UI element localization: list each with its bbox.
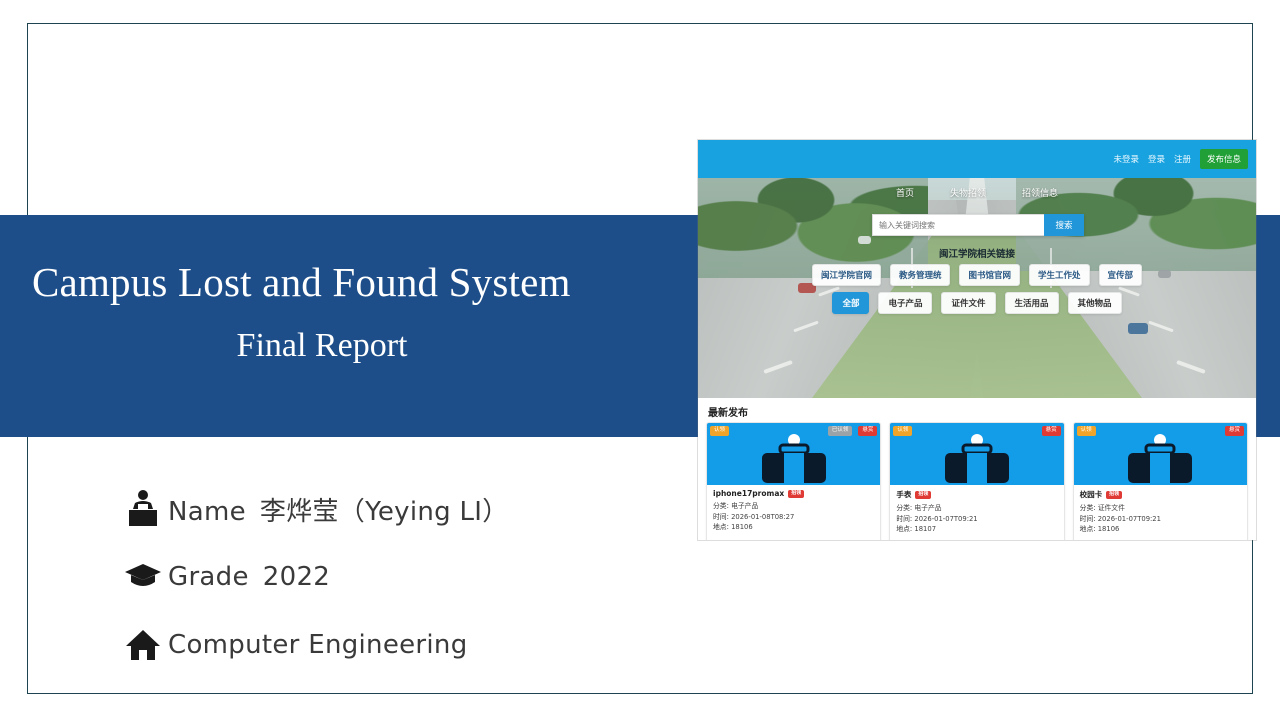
label-category: 分类:	[713, 502, 729, 510]
item-place: 18106	[731, 523, 753, 531]
item-thumbnail: 认领 悬赏	[1074, 423, 1247, 485]
item-time: 2026-01-07T09:21	[914, 515, 977, 523]
list-item[interactable]: 认领 悬赏	[1073, 422, 1248, 540]
label-place: 地点:	[1080, 525, 1096, 533]
item-place-line: 地点: 18106	[713, 522, 874, 533]
item-place: 18106	[1098, 525, 1120, 533]
badge-reward: 悬赏	[1042, 426, 1061, 436]
item-name: 校园卡	[1080, 489, 1103, 500]
nav-tab-found-info[interactable]: 招领信息	[1022, 186, 1058, 199]
page-subtitle: Final Report	[32, 327, 612, 365]
link-chip-academic-affairs[interactable]: 教务管理统	[890, 264, 951, 286]
label-place: 地点:	[896, 525, 912, 533]
list-item[interactable]: 认领 已认领 悬赏	[706, 422, 881, 540]
presenter-icon	[118, 487, 168, 531]
label-time: 时间:	[896, 515, 912, 523]
item-time-line: 时间: 2026-01-08T08:27	[713, 512, 874, 523]
presentation-slide: Campus Lost and Found System Final Repor…	[0, 0, 1280, 720]
item-name: iphone17promax	[713, 489, 784, 498]
item-category-line: 分类: 电子产品	[713, 501, 874, 512]
item-time: 2026-01-08T08:27	[731, 513, 794, 521]
label-category: 分类:	[1080, 504, 1096, 512]
item-category: 电子产品	[914, 504, 941, 512]
item-details: iphone17promax 招领 分类: 电子产品 时间: 2026-01-0…	[707, 485, 880, 539]
item-category: 证件文件	[1098, 504, 1125, 512]
nav-tab-home[interactable]: 首页	[896, 186, 914, 199]
item-thumbnail: 认领 已认领 悬赏	[707, 423, 880, 485]
suitcase-icon	[937, 431, 1017, 485]
item-place: 18107	[914, 525, 936, 533]
car-blue	[1128, 323, 1148, 334]
item-status-tag: 招领	[915, 491, 931, 499]
related-links-title: 闽江学院相关链接	[698, 246, 1256, 260]
item-status-tag: 招领	[788, 490, 804, 498]
badge-reward: 悬赏	[1225, 426, 1244, 436]
badge-claim: 认领	[710, 426, 729, 436]
website-screenshot: 校江失物招领系统 未登录 登录 注册 发布信息 首页 失物招领 招领信息 搜索 …	[698, 140, 1256, 540]
category-chip-other[interactable]: 其他物品	[1068, 292, 1122, 314]
item-time-line: 时间: 2026-01-07T09:21	[896, 514, 1057, 525]
nav-tab-lost-and-found[interactable]: 失物招领	[950, 186, 986, 199]
secondary-nav: 首页 失物招领 招领信息	[698, 186, 1256, 199]
search-input[interactable]	[872, 214, 1044, 236]
search-bar: 搜索	[872, 214, 1084, 236]
info-name-text: Name李烨莹（Yeying LI）	[168, 491, 509, 528]
link-chip-publicity[interactable]: 宣传部	[1099, 264, 1143, 286]
item-category-line: 分类: 电子产品	[896, 503, 1057, 514]
item-time-line: 时间: 2026-01-07T09:21	[1080, 514, 1241, 525]
info-row-name: Name李烨莹（Yeying LI）	[118, 480, 678, 538]
item-name-row: 手表 招领	[896, 489, 1057, 500]
item-details: 校园卡 招领 分类: 证件文件 时间: 2026-01-07T09:21	[1074, 485, 1247, 540]
item-time: 2026-01-07T09:21	[1098, 515, 1161, 523]
latest-posts-section: 最新发布 认领 已认领 悬赏	[698, 398, 1256, 540]
label-place: 地点:	[713, 523, 729, 531]
author-info-list: Name李烨莹（Yeying LI） Grade2022 Computer En…	[118, 480, 678, 684]
info-name-value: 李烨莹（Yeying LI）	[260, 497, 509, 527]
link-chip-library[interactable]: 图书馆官网	[959, 264, 1020, 286]
label-time: 时间:	[1080, 515, 1096, 523]
info-row-major: Computer Engineering	[118, 616, 678, 674]
badge-reward: 悬赏	[858, 426, 877, 436]
item-name-row: 校园卡 招领	[1080, 489, 1241, 500]
info-grade-value: 2022	[263, 562, 330, 592]
category-chip-documents[interactable]: 证件文件	[941, 292, 995, 314]
link-chip-student-affairs[interactable]: 学生工作处	[1029, 264, 1090, 286]
item-place-line: 地点: 18107	[896, 524, 1057, 535]
category-chip-electronics[interactable]: 电子产品	[878, 292, 932, 314]
info-row-grade: Grade2022	[118, 548, 678, 606]
item-category-line: 分类: 证件文件	[1080, 503, 1241, 514]
home-icon	[118, 623, 168, 667]
item-name: 手表	[896, 489, 911, 500]
info-grade-label: Grade	[168, 562, 249, 592]
hero-campus-photo: 校江失物招领系统 未登录 登录 注册 发布信息 首页 失物招领 招领信息 搜索 …	[698, 140, 1256, 398]
label-time: 时间:	[713, 513, 729, 521]
related-links-row: 闽江学院官网 教务管理统 图书馆官网 学生工作处 宣传部	[698, 264, 1256, 286]
suitcase-icon	[1120, 431, 1200, 485]
search-button[interactable]: 搜索	[1044, 214, 1084, 236]
info-major-text: Computer Engineering	[168, 630, 468, 660]
list-item[interactable]: 认领 悬赏	[889, 422, 1064, 540]
category-chip-daily-goods[interactable]: 生活用品	[1005, 292, 1059, 314]
latest-posts-title: 最新发布	[708, 404, 748, 419]
link-chip-official-site[interactable]: 闽江学院官网	[812, 264, 881, 286]
suitcase-icon	[754, 431, 834, 485]
graduation-cap-icon	[118, 555, 168, 599]
item-thumbnail: 认领 悬赏	[890, 423, 1063, 485]
item-details: 手表 招领 分类: 电子产品 时间: 2026-01-07T09:21	[890, 485, 1063, 540]
item-category: 电子产品	[731, 502, 758, 510]
label-category: 分类:	[896, 504, 912, 512]
badge-claim: 认领	[1077, 426, 1096, 436]
header-link-register[interactable]: 注册	[1174, 153, 1191, 165]
latest-posts-cards: 认领 已认领 悬赏	[706, 422, 1248, 540]
item-place-line: 地点: 18106	[1080, 524, 1241, 535]
publish-info-button[interactable]: 发布信息	[1200, 149, 1248, 169]
info-grade-text: Grade2022	[168, 562, 330, 592]
badge-claim: 认领	[893, 426, 912, 436]
car-white	[858, 236, 871, 244]
header-actions: 未登录 登录 注册 发布信息	[1113, 140, 1248, 178]
header-link-login[interactable]: 登录	[1148, 153, 1165, 165]
item-name-row: iphone17promax 招领	[713, 489, 874, 498]
category-chip-all[interactable]: 全部	[832, 292, 869, 314]
category-filter-row: 全部 电子产品 证件文件 生活用品 其他物品	[698, 292, 1256, 314]
item-status-tag: 招领	[1106, 491, 1122, 499]
header-link-not-logged-in[interactable]: 未登录	[1113, 153, 1139, 165]
info-name-label: Name	[168, 497, 246, 527]
